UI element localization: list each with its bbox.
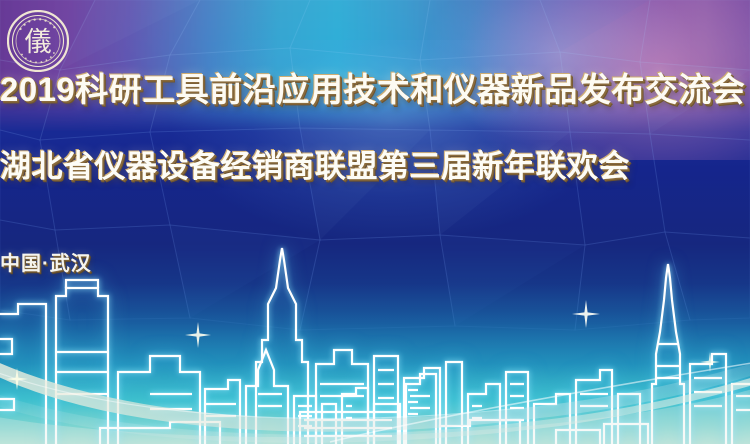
sparkle-icon: [700, 352, 720, 372]
event-title-main: 2019科研工具前沿应用技术和仪器新品发布交流会: [0, 68, 750, 112]
sparkle-icon: [572, 300, 600, 328]
event-city-label: 中国·武汉: [0, 250, 750, 278]
sparkle-icon: [185, 322, 211, 348]
event-title-sub: 湖北省仪器设备经销商联盟第三届新年联欢会: [0, 146, 750, 188]
light-streak-swoosh: [0, 314, 750, 444]
seal-center-glyph: 儀: [25, 27, 52, 57]
instrument-seal-logo: 儀: [7, 10, 69, 72]
event-banner: 儀 2019科研工具前沿应用技术和仪器新品发布交流会 湖北省仪器设备经销商联盟第…: [0, 0, 750, 444]
sparkle-icon: [6, 368, 28, 390]
